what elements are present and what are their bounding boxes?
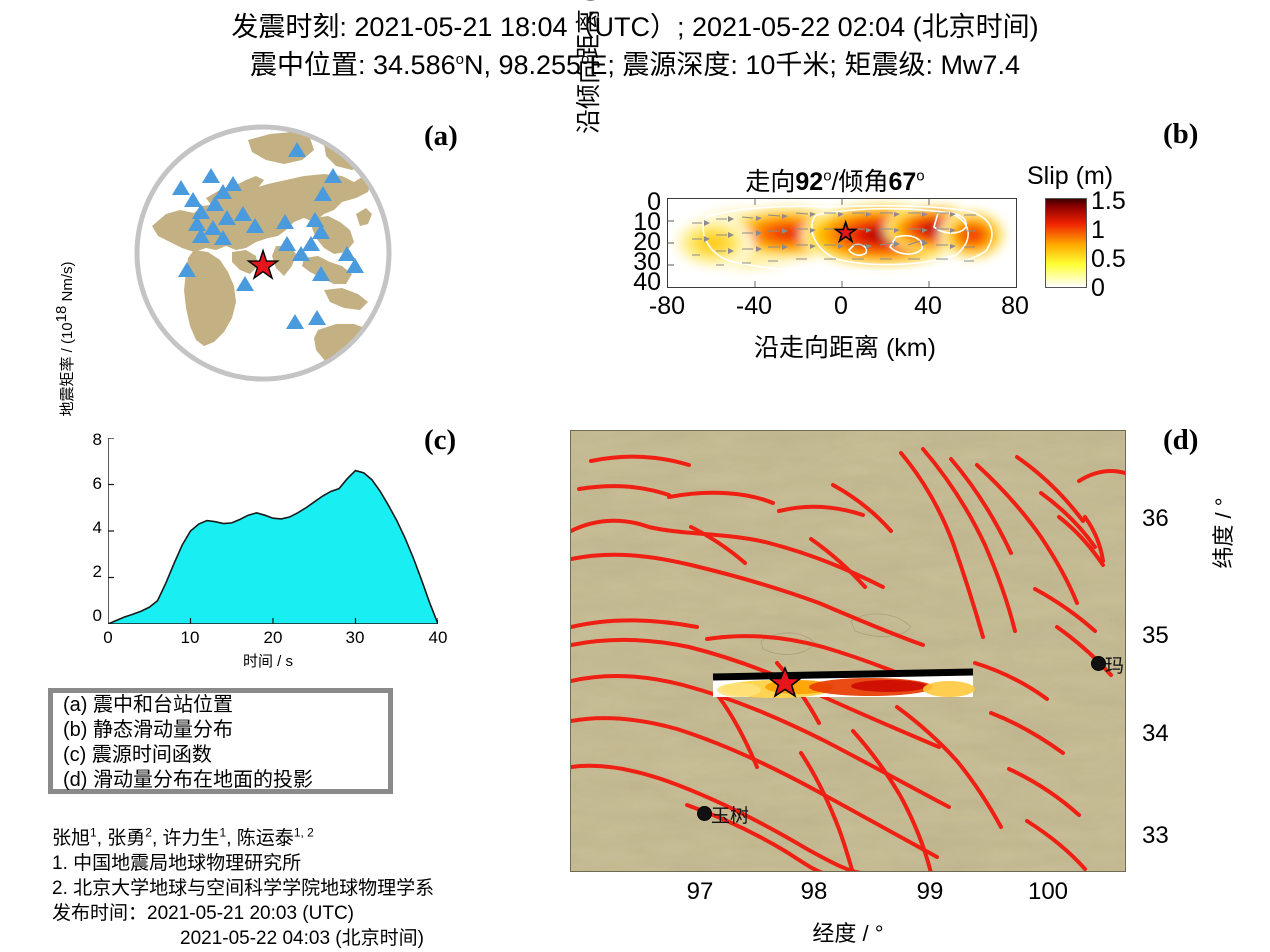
station-marker	[286, 314, 304, 329]
y-tick: 0	[93, 606, 102, 626]
x-tick: 80	[985, 292, 1045, 321]
colorbar-tick: 0.5	[1091, 246, 1126, 272]
release-time-utc: 发布时间：2021-05-21 20:03 (UTC)	[52, 901, 572, 926]
lon-tick: 99	[900, 878, 960, 906]
legend-item: (c) 震源时间函数	[53, 743, 388, 768]
station-marker	[292, 246, 310, 261]
x-tick: -40	[724, 292, 784, 321]
lat-tick: 35	[1142, 622, 1169, 650]
colorbar-tick: 1.5	[1091, 188, 1126, 214]
panel-a-letter: (a)	[424, 120, 458, 153]
station-marker	[214, 230, 232, 245]
panel-d-surface-projection-map: 玛沁 玉树 36 35 34 33 纬度 / ° 97 98 99 100 经度…	[570, 430, 1270, 950]
y-tick: 4	[93, 518, 102, 538]
lon-tick: 100	[1018, 878, 1078, 906]
colorbar-tick: 1	[1091, 217, 1105, 243]
station-marker	[192, 228, 210, 243]
x-tick: -80	[637, 292, 697, 321]
x-tick: 0	[811, 292, 871, 321]
regional-map-frame: 玛沁 玉树	[570, 430, 1126, 872]
lat-tick: 36	[1142, 505, 1169, 533]
lon-tick: 97	[670, 878, 730, 906]
degree-symbol: o	[456, 51, 464, 68]
epicenter-line: 震中位置: 34.586oN, 98.255oE; 震源深度: 10千米; 矩震…	[0, 46, 1270, 84]
lat-tick: 34	[1142, 720, 1169, 748]
author-block: 张旭1, 张勇2, 许力生1, 陈运泰1, 2 1. 中国地震局地球物理研究所 …	[52, 826, 572, 951]
y-tick: 8	[93, 430, 102, 450]
affiliation-2: 2. 北京大学地球与空间科学学院地球物理学系	[52, 876, 572, 901]
x-tick: 40	[418, 628, 458, 648]
city-label-yushu: 玉树	[711, 801, 749, 828]
legend-item: (d) 滑动量分布在地面的投影	[53, 768, 388, 793]
exponent: 18	[53, 306, 70, 323]
release-time-beijing: 2021-05-22 04:03 (北京时间)	[52, 926, 572, 951]
legend-item: (a) 震中和台站位置	[53, 693, 388, 718]
slip-model-axes: ★	[667, 198, 1017, 288]
station-marker	[276, 214, 294, 229]
legend-item: (b) 静态滑动量分布	[53, 718, 388, 743]
x-tick: 30	[335, 628, 375, 648]
regional-map-svg	[571, 431, 1126, 872]
panel-b-x-axis-label: 沿走向距离 (km)	[635, 328, 1055, 364]
globe-projection: ★	[128, 118, 398, 388]
x-tick: 20	[253, 628, 293, 648]
panel-b-slip-distribution: 沿倾向距离 (km) 走向92o/倾角67o	[575, 140, 1195, 390]
origin-time-line: 发震时刻: 2021-05-21 18:04（UTC）; 2021-05-22 …	[0, 8, 1270, 46]
panel-b-title: 走向92o/倾角67o	[670, 162, 1000, 198]
moment-rate-plot	[108, 438, 438, 624]
panel-b-y-axis-label: 沿倾向距离 (km)	[569, 0, 605, 148]
degree-symbol: o	[823, 168, 831, 185]
panel-legend-box: (a) 震中和台站位置 (b) 静态滑动量分布 (c) 震源时间函数 (d) 滑…	[48, 688, 393, 794]
slip-colorbar	[1045, 198, 1087, 288]
x-tick: 40	[898, 292, 958, 321]
station-marker	[346, 258, 364, 273]
station-marker	[246, 218, 264, 233]
panel-a-station-map: ★	[128, 118, 398, 388]
station-marker	[324, 168, 342, 183]
panel-c-y-axis-label: 地震矩率 / (1018 Nm/s)	[56, 244, 77, 434]
station-marker	[178, 262, 196, 277]
station-marker	[312, 266, 330, 281]
header-info: 发震时刻: 2021-05-21 18:04（UTC）; 2021-05-22 …	[0, 8, 1270, 84]
city-marker-yushu	[697, 806, 712, 821]
station-marker	[202, 168, 220, 183]
affiliation-marker: 1, 2	[294, 826, 314, 840]
panel-d-latitude-label: 纬度 / °	[1206, 458, 1238, 608]
city-marker-maqin	[1091, 656, 1106, 671]
moment-rate-svg	[108, 438, 438, 624]
city-label-maqin: 玛沁	[1105, 651, 1126, 678]
y-tick: 40	[615, 272, 661, 292]
author-names: 张旭1, 张勇2, 许力生1, 陈运泰1, 2	[52, 826, 572, 851]
affiliation-marker: 1	[90, 826, 97, 840]
y-tick: 6	[93, 474, 102, 494]
y-tick: 2	[93, 562, 102, 582]
affiliation-1: 1. 中国地震局地球物理研究所	[52, 851, 572, 876]
x-tick: 10	[170, 628, 210, 648]
affiliation-marker: 2	[145, 826, 152, 840]
degree-symbol: o	[916, 168, 924, 185]
lat-tick: 33	[1142, 822, 1169, 850]
panel-b-y-ticks: 0 10 20 30 40	[615, 192, 661, 292]
x-tick: 0	[88, 628, 128, 648]
lon-tick: 98	[784, 878, 844, 906]
panel-d-longitude-label: 经度 / °	[570, 916, 1126, 948]
station-marker	[314, 186, 332, 201]
panel-c-x-axis-label: 时间 / s	[98, 650, 438, 671]
panel-d-latitude-ticks: 36 35 34 33	[1136, 430, 1196, 872]
panel-c-source-time-function: 地震矩率 / (1018 Nm/s) 8 6 4 2 0 0 10 20 30 …	[58, 428, 478, 658]
station-marker	[288, 142, 306, 157]
colorbar-tick: 0	[1091, 275, 1105, 301]
station-marker	[308, 310, 326, 325]
